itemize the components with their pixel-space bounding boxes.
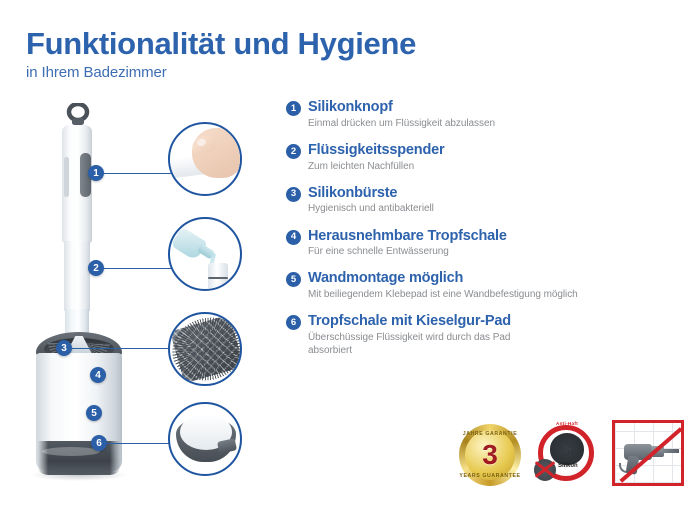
- detail-circle-silicone-button: [168, 122, 242, 196]
- product-marker-3[interactable]: 3: [56, 340, 72, 356]
- detail-circle-liquid-dispenser: [168, 217, 242, 291]
- feature-title-6: Tropfschale mit Kieselgur-Pad: [308, 313, 686, 330]
- page-title: Funktionalität und Hygiene: [26, 28, 416, 61]
- feature-item-1: 1 Silikonknopf Einmal drücken um Flüssig…: [286, 99, 686, 130]
- feature-title-1: Silikonknopf: [308, 99, 686, 116]
- detail3-bristle-spikes: [168, 312, 242, 386]
- handle-slot: [64, 157, 69, 197]
- drill-bit: [663, 449, 679, 453]
- feature-title-3: Silikonbürste: [308, 185, 686, 202]
- seal-top-text: JAHRE GARANTIE: [459, 431, 521, 437]
- feature-desc-6: Überschüssige Flüssigkeit wird durch das…: [308, 331, 523, 357]
- product-marker-1[interactable]: 1: [88, 165, 104, 181]
- product-shadow: [30, 469, 128, 481]
- brush-icon: [550, 433, 584, 465]
- anti-stick-label: Silikon: [558, 463, 578, 469]
- anti-stick-top-text: Anti-Haft: [552, 421, 582, 426]
- feature-desc-3: Hygienisch und antibakteriell: [308, 202, 686, 215]
- detail2-tube-marking: [208, 277, 228, 279]
- feature-desc-1: Einmal drücken um Flüssigkeit abzulassen: [308, 117, 686, 130]
- page-subtitle: in Ihrem Badezimmer: [26, 64, 416, 81]
- hanging-loop-icon: [66, 103, 90, 127]
- infographic-page: Funktionalität und Hygiene in Ihrem Bade…: [0, 0, 700, 506]
- feature-title-2: Flüssigkeitsspender: [308, 142, 686, 159]
- product-marker-2[interactable]: 2: [88, 260, 104, 276]
- detail4-tray-lip: [217, 438, 237, 453]
- anti-stick-badge: Anti-Haft Silikon: [532, 421, 600, 489]
- holder-base-highlight: [42, 447, 100, 456]
- feature-number-4: 4: [286, 230, 301, 245]
- feature-desc-2: Zum leichten Nachfüllen: [308, 160, 686, 173]
- seal-bottom-text: YEARS GUARANTEE: [459, 473, 521, 479]
- leader-line-3: [72, 348, 174, 349]
- feature-desc-4: Für eine schnelle Entwässerung: [308, 245, 686, 258]
- leader-line-6: [107, 443, 175, 444]
- product-marker-4[interactable]: 4: [90, 367, 106, 383]
- guarantee-seal-badge: 3 JAHRE GARANTIE YEARS GUARANTEE: [459, 424, 521, 486]
- feature-title-5: Wandmontage möglich: [308, 270, 686, 287]
- product-marker-5[interactable]: 5: [86, 405, 102, 421]
- feature-number-3: 3: [286, 187, 301, 202]
- feature-number-2: 2: [286, 144, 301, 159]
- feature-item-3: 3 Silikonbürste Hygienisch und antibakte…: [286, 185, 686, 216]
- feature-item-2: 2 Flüssigkeitsspender Zum leichten Nachf…: [286, 142, 686, 173]
- badge-row: 3 JAHRE GARANTIE YEARS GUARANTEE Anti-Ha…: [455, 418, 690, 490]
- feature-number-1: 1: [286, 101, 301, 116]
- feature-item-6: 6 Tropfschale mit Kieselgur-Pad Überschü…: [286, 313, 686, 357]
- header: Funktionalität und Hygiene in Ihrem Bade…: [26, 28, 416, 81]
- feature-title-4: Herausnehmbare Tropfschale: [308, 228, 686, 245]
- detail-circle-drip-tray: [168, 402, 242, 476]
- feature-item-5: 5 Wandmontage möglich Mit beiliegendem K…: [286, 270, 686, 301]
- product-marker-6[interactable]: 6: [91, 435, 107, 451]
- handle-middle: [64, 241, 90, 311]
- leader-line-1: [96, 173, 174, 174]
- no-drilling-badge: [612, 420, 684, 486]
- leader-line-2: [96, 268, 174, 269]
- detail-circle-silicone-brush: [168, 312, 242, 386]
- feature-number-5: 5: [286, 272, 301, 287]
- feature-list: 1 Silikonknopf Einmal drücken um Flüssig…: [286, 99, 686, 369]
- feature-item-4: 4 Herausnehmbare Tropfschale Für eine sc…: [286, 228, 686, 259]
- feature-number-6: 6: [286, 315, 301, 330]
- feature-desc-5: Mit beiliegendem Klebepad ist eine Wandb…: [308, 288, 686, 301]
- seal-number: 3: [482, 441, 498, 469]
- product-illustration: 1 2 3 4 5 6: [0, 95, 160, 485]
